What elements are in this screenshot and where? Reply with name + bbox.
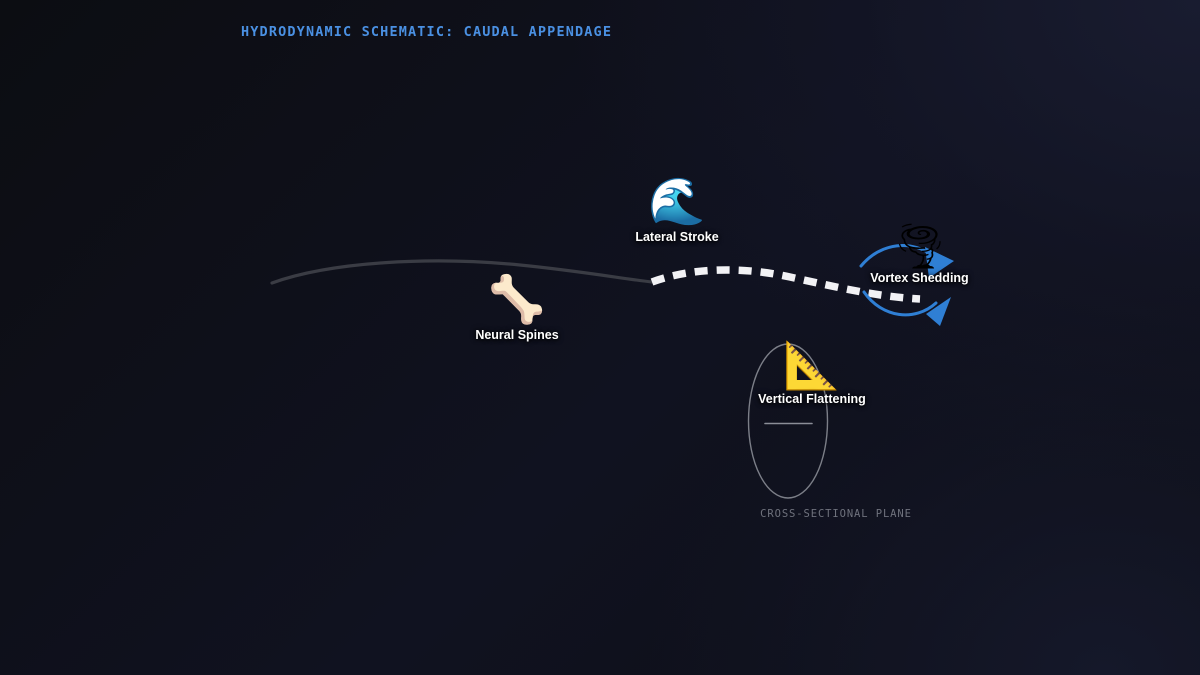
water-wave-icon: 🌊 — [612, 178, 742, 224]
diagram-node-label: Lateral Stroke — [612, 230, 742, 244]
diagram-node-vertical-flattening[interactable]: 📐 Vertical Flattening — [752, 342, 872, 406]
diagram-node-label: Neural Spines — [452, 328, 582, 342]
bone-icon: 🦴 — [452, 276, 582, 322]
slide-canvas: HYDRODYNAMIC SCHEMATIC: CAUDAL APPENDAGE… — [0, 0, 1200, 675]
triangular-ruler-icon: 📐 — [752, 342, 872, 388]
diagram-node-label: Vortex Shedding — [862, 271, 977, 285]
hydrodynamic-diagram — [0, 0, 1200, 675]
diagram-node-label: Vertical Flattening — [752, 392, 872, 406]
vortex-arrow-lower-head — [926, 297, 951, 326]
diagram-node-lateral-stroke[interactable]: 🌊 Lateral Stroke — [612, 178, 742, 244]
cross-section-caption: CROSS-SECTIONAL PLANE — [736, 508, 936, 520]
diagram-node-neural-spines[interactable]: 🦴 Neural Spines — [452, 276, 582, 342]
tornado-icon: 🌪 — [862, 225, 977, 269]
vortex-arrow-lower-path — [864, 292, 936, 315]
diagram-node-vortex-shedding[interactable]: 🌪 Vortex Shedding — [862, 225, 977, 285]
schematic-eyebrow-title: HYDRODYNAMIC SCHEMATIC: CAUDAL APPENDAGE — [241, 24, 612, 40]
